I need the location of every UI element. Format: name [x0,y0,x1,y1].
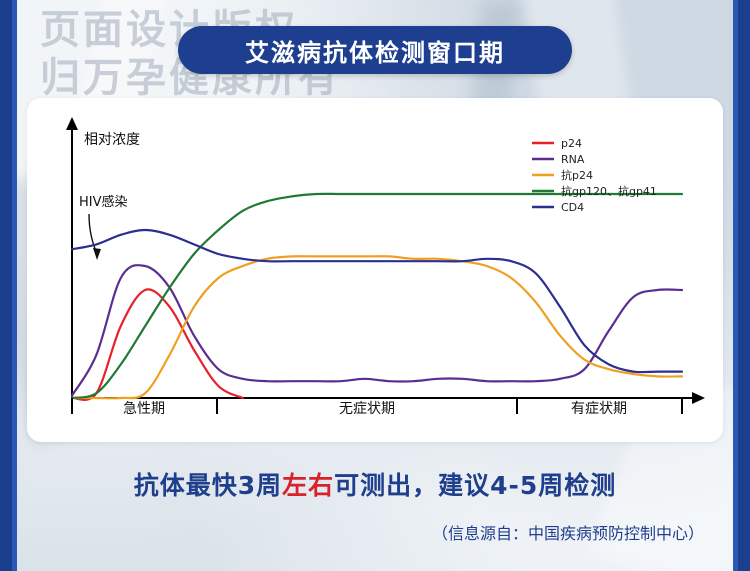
legend-label-1: p24 [561,137,582,150]
chart-legend: p24RNA抗p24抗gp120、抗gp41CD4 [532,137,657,214]
caption-after: 可测出，建议4-5周检测 [334,471,616,500]
source-note: （信息源自：中国疾病预防控制中心） [432,520,704,544]
caption-highlight: 左右 [282,471,334,500]
chart-card: 相对浓度 HIV感染 急性期 无症状期 有症状期 p24RNA抗p24抗gp12… [27,98,723,442]
legend-label-2: RNA [561,153,585,166]
caption: 抗体最快3周左右可测出，建议4-5周检测 [0,466,750,502]
legend-label-3: 抗p24 [561,168,593,182]
chart-series-layer [72,194,682,400]
caption-before: 抗体最快3周 [134,471,282,500]
infection-annotation-label: HIV感染 [79,194,128,210]
page-title: 艾滋病抗体检测窗口期 [178,26,572,74]
legend-label-5: CD4 [561,201,584,214]
stage-label-symptomatic: 有症状期 [571,401,627,417]
chart-canvas: 相对浓度 HIV感染 急性期 无症状期 有症状期 p24RNA抗p24抗gp12… [27,98,723,442]
stage-label-acute: 急性期 [123,401,165,417]
y-axis-label: 相对浓度 [84,132,140,148]
legend-label-4: 抗gp120、抗gp41 [561,184,657,198]
chart-line-3 [72,256,682,398]
infection-annotation: HIV感染 [79,194,128,260]
chart-line-2 [72,265,682,396]
stage-label-asymptomatic: 无症状期 [339,401,395,417]
